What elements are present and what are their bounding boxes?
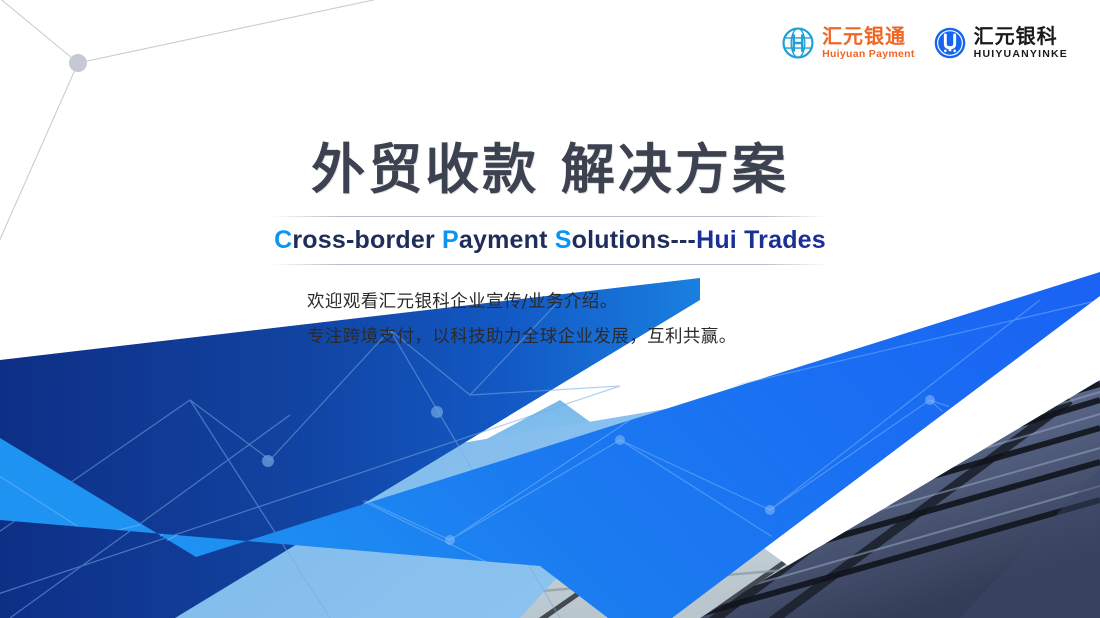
subtitle-seg-6: Hui Trades: [696, 226, 826, 254]
subtitle-seg-3: ayment: [459, 226, 555, 254]
huiyuan-payment-globe-icon: [781, 26, 815, 60]
logo-bar: 汇元银通 Huiyuan Payment 汇元银科 HUIYUANYINKE: [781, 26, 1068, 60]
subtitle-seg-4: S: [555, 226, 572, 254]
building-photo-right: [680, 360, 1100, 618]
page-title: 外贸收款 解决方案: [0, 138, 1100, 202]
logo-huiyuanyinke-cn: 汇元银科: [974, 26, 1068, 46]
page-subtitle: Cross-border Payment Solutions---Hui Tra…: [271, 217, 829, 264]
chevron-network-nodes: [125, 395, 935, 565]
subtitle-seg-1: ross-border: [292, 226, 442, 254]
subtitle-seg-2: P: [442, 226, 459, 254]
title-block: 外贸收款 解决方案 Cross-border Payment Solutions…: [0, 138, 1100, 355]
network-node-icon: [69, 54, 87, 72]
building-photo-left: [100, 380, 900, 618]
subtitle-seg-0: C: [274, 226, 292, 254]
light-blue-wedge: [0, 400, 720, 618]
logo-huiyuan-payment-cn: 汇元银通: [822, 26, 915, 46]
body-line-2: 专注跨境支付，以科技助力全球企业发展，互利共赢。: [307, 320, 829, 355]
dark-band-network-nodes: [94, 406, 502, 518]
logo-huiyuan-payment[interactable]: 汇元银通 Huiyuan Payment: [781, 26, 915, 60]
subtitle-rules: Cross-border Payment Solutions---Hui Tra…: [271, 216, 829, 265]
logo-huiyuan-payment-en: Huiyuan Payment: [822, 49, 915, 60]
logo-huiyuanyinke-en: HUIYUANYINKE: [974, 49, 1068, 60]
divider-bottom: [271, 264, 829, 265]
logo-huiyuanyinke[interactable]: 汇元银科 HUIYUANYINKE: [933, 26, 1068, 60]
subtitle-seg-5: olutions---: [572, 226, 696, 254]
body-line-1: 欢迎观看汇元银科企业宣传/业务介绍。: [307, 285, 829, 320]
slide-root: 汇元银通 Huiyuan Payment 汇元银科 HUIYUANYINKE 外…: [0, 0, 1100, 618]
body-text: 欢迎观看汇元银科企业宣传/业务介绍。 专注跨境支付，以科技助力全球企业发展，互利…: [271, 285, 829, 355]
huiyuanyinke-circle-icon: [933, 26, 967, 60]
